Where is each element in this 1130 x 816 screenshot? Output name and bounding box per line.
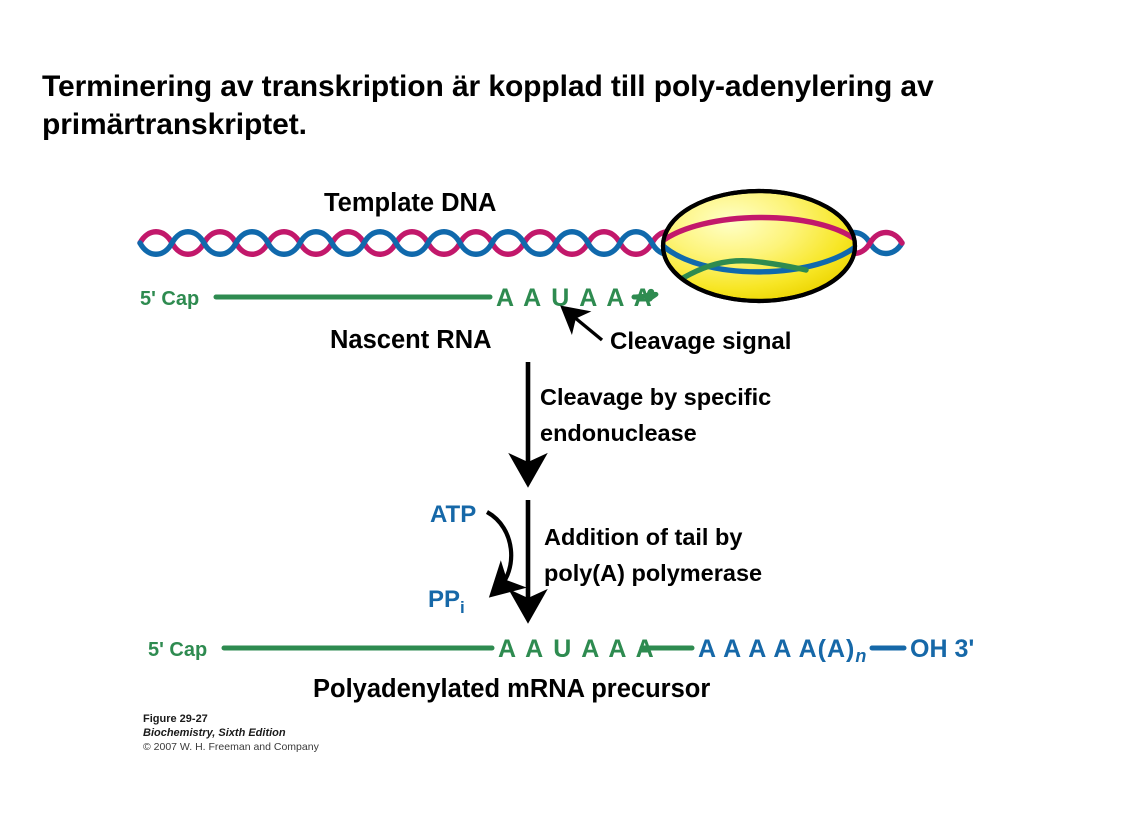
ppi-label: PPi: [428, 586, 465, 617]
step1-label-line2: endonuclease: [540, 420, 697, 446]
cleavage-signal-label: Cleavage signal: [610, 328, 791, 355]
caption-copyright: © 2007 W. H. Freeman and Company: [143, 740, 319, 754]
step2-label-line2: poly(A) polymerase: [544, 560, 762, 586]
step2-label-line1: Addition of tail by: [544, 524, 742, 550]
cleavage-signal-annotation: Cleavage signal: [568, 312, 791, 355]
caption-figure-number: Figure 29-27: [143, 712, 319, 726]
slide-canvas: Terminering av transkription är kopplad …: [0, 0, 1130, 816]
five-prime-cap-label-top: 5' Cap: [140, 288, 199, 310]
cleavage-signal-sequence-top: A A U A A A: [496, 284, 654, 312]
step1-label-line1: Cleavage by specific: [540, 384, 771, 410]
rna-polymerase-bubble: [648, 191, 860, 301]
caption-source: Biochemistry, Sixth Edition: [143, 726, 319, 740]
step1-cleavage-arrow-group: Cleavage by specific endonuclease: [528, 362, 771, 474]
cleavage-signal-sequence-bottom: A A U A A A: [498, 635, 656, 663]
cleavage-signal-arrow: [568, 312, 602, 340]
figure-caption: Figure 29-27 Biochemistry, Sixth Edition…: [143, 712, 319, 754]
three-prime-oh-label: OH 3': [910, 635, 974, 663]
nascent-rna-label: Nascent RNA: [330, 326, 492, 354]
atp-to-ppi-curved-arrow: [487, 512, 511, 589]
polyadenylation-diagram: Template DNA: [0, 0, 1130, 816]
polyadenylated-mrna-strand: 5' Cap A A U A A A A A A A A(A)n OH 3': [148, 635, 974, 666]
product-label: Polyadenylated mRNA precursor: [313, 675, 710, 703]
poly-a-tail-sequence: A A A A A(A)n: [698, 635, 867, 666]
template-dna-label: Template DNA: [324, 189, 496, 217]
dna-double-helix-left: [140, 232, 684, 255]
atp-label: ATP: [430, 501, 476, 528]
step2-polya-arrow-group: ATP PPi Addition of tail by poly(A) poly…: [428, 500, 762, 617]
nascent-rna-strand: 5' Cap A A U A A A: [140, 284, 656, 312]
five-prime-cap-label-bottom: 5' Cap: [148, 639, 207, 661]
